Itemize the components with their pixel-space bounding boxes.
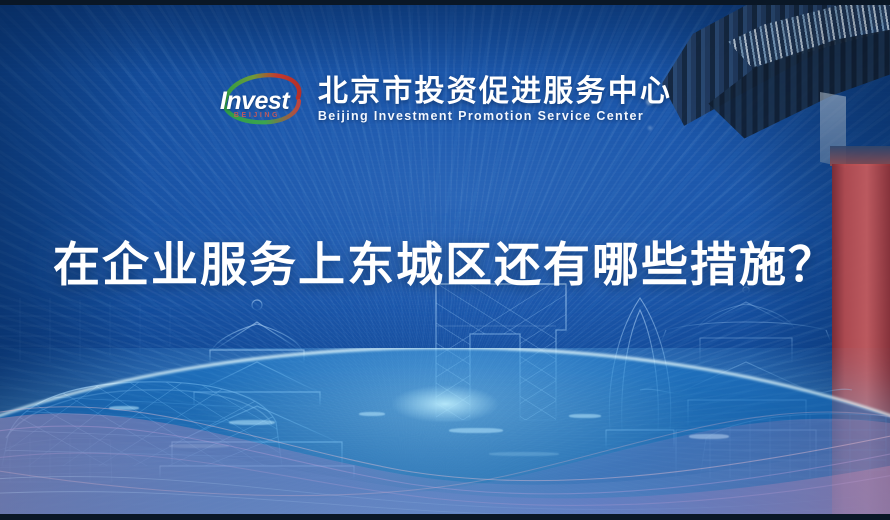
logo-subscript: BEIJING <box>234 112 280 119</box>
slide-headline: 在企业服务上东城区还有哪些措施？ <box>0 226 890 295</box>
org-name-cn: 北京市投资促进服务中心 <box>318 76 672 108</box>
letterbox-bar-bottom <box>0 514 890 520</box>
brand-text-block: 北京市投资促进服务中心 Beijing Investment Promotion… <box>318 76 672 124</box>
invest-ellipse-logo: Invest BEIJING <box>218 72 304 128</box>
letterbox-bar-top <box>0 0 890 5</box>
org-name-en: Beijing Investment Promotion Service Cen… <box>318 110 672 124</box>
brand-header: Invest BEIJING 北京市投资促进服务中心 Beijing Inves… <box>0 72 890 128</box>
red-wall-cap <box>830 146 890 166</box>
decorative-wave-ribbons <box>0 330 890 520</box>
slide-canvas: Invest BEIJING 北京市投资促进服务中心 Beijing Inves… <box>0 0 890 520</box>
